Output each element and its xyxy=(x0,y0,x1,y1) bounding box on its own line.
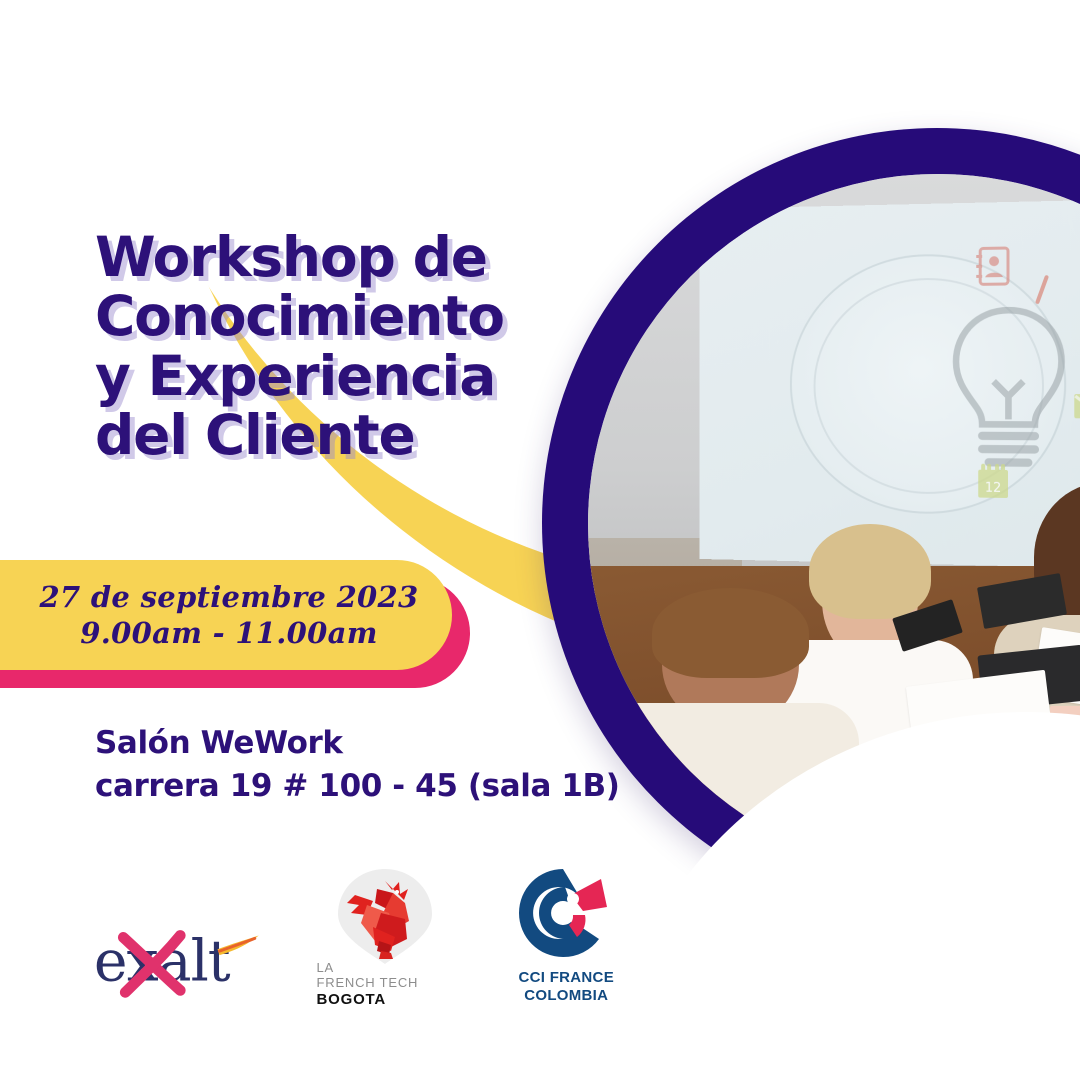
cci-wordmark: CCI FRANCE COLOMBIA xyxy=(503,969,630,1005)
cci-line-2: COLOMBIA xyxy=(503,987,630,1005)
page-title: Workshop de Conocimiento y Experiencia d… xyxy=(95,228,615,466)
white-ribbon-cut xyxy=(606,712,1080,1080)
venue-street: carrera 19 # 100 - 45 (sala 1B) xyxy=(95,765,635,808)
title-line-3: y Experiencia xyxy=(95,347,615,406)
exalt-logo-mark: exalt xyxy=(90,915,267,1005)
title-line-4: del Cliente xyxy=(95,406,615,465)
french-tech-logo: LA FRENCH TECH BOGOTA xyxy=(315,865,455,1005)
event-time: 9.00am - 11.00am xyxy=(44,616,377,650)
french-tech-line-3: BOGOTA xyxy=(317,991,419,1008)
french-tech-line-1: LA xyxy=(317,961,419,976)
exalt-logo: exalt xyxy=(90,915,267,1005)
event-date: 27 de septiembre 2023 xyxy=(4,580,419,614)
title-line-2: Conocimiento xyxy=(95,287,615,346)
sponsor-logos: exalt xyxy=(90,845,630,1005)
poster-content: Workshop de Conocimiento y Experiencia d… xyxy=(0,0,640,1080)
banner-yellow-body: 27 de septiembre 2023 9.00am - 11.00am xyxy=(0,560,452,670)
cci-line-1: CCI FRANCE xyxy=(503,969,630,987)
french-tech-pin-icon xyxy=(315,865,455,965)
event-poster: 12 In co tortor si Aenean aliquet egesta… xyxy=(0,0,1080,1080)
venue-name: Salón WeWork xyxy=(95,722,635,765)
date-time-banner: 27 de septiembre 2023 9.00am - 11.00am xyxy=(0,560,470,688)
venue-address: Salón WeWork carrera 19 # 100 - 45 (sala… xyxy=(95,722,635,808)
french-tech-line-2: FRENCH TECH xyxy=(317,976,419,991)
french-tech-wordmark: LA FRENCH TECH BOGOTA xyxy=(317,961,419,1008)
title-line-1: Workshop de xyxy=(95,228,615,287)
cci-logo: CCI FRANCE COLOMBIA xyxy=(503,865,630,1005)
cci-logo-mark xyxy=(503,865,623,960)
